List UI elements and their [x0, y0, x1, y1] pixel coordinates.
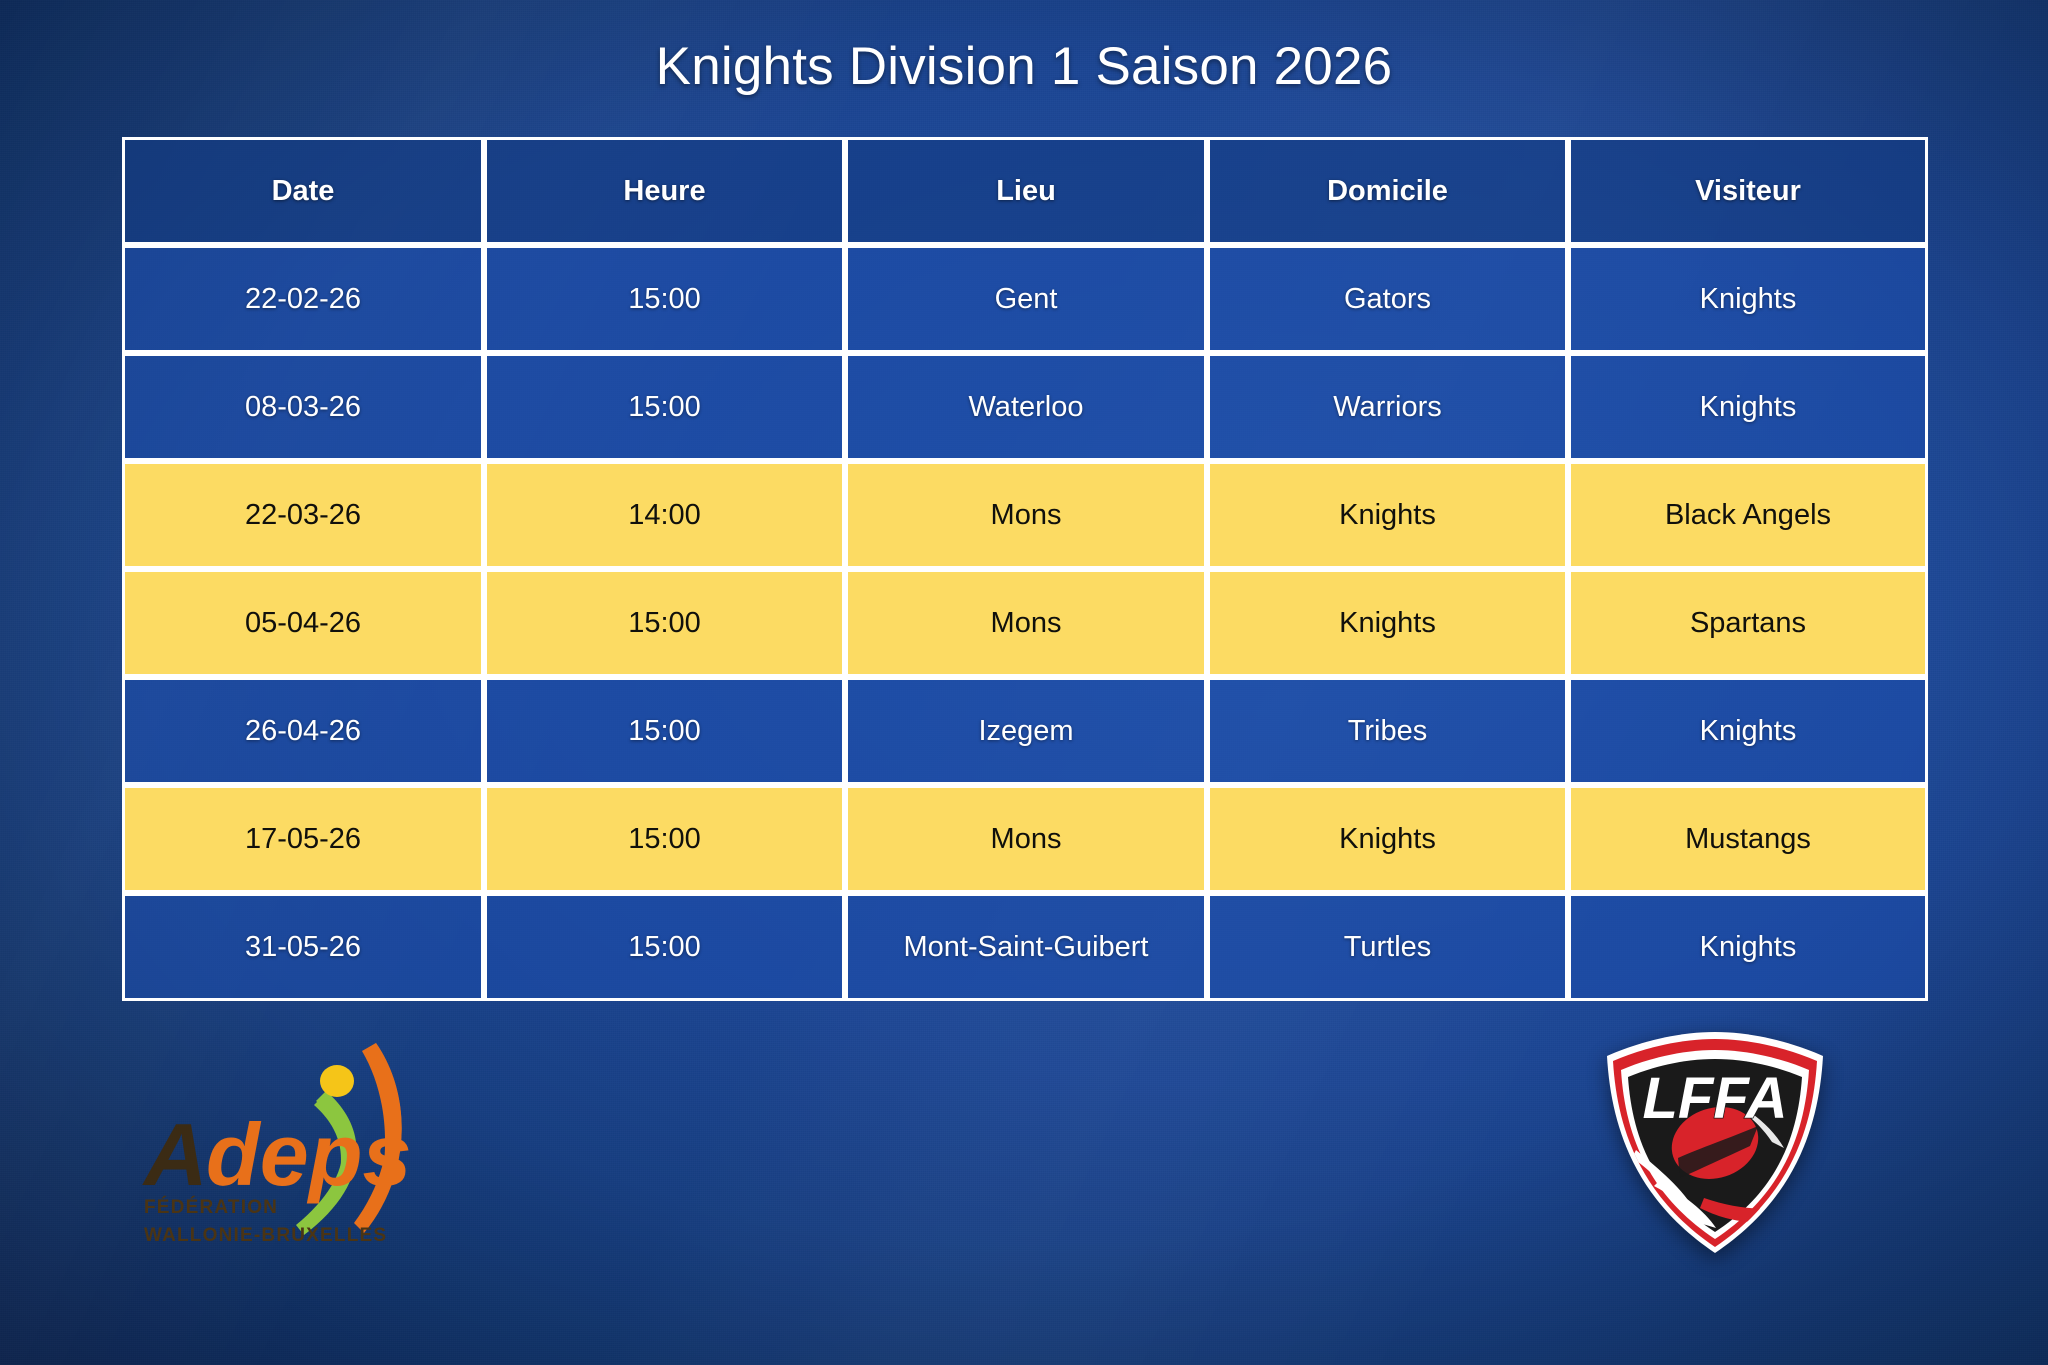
cell-date: 08-03-26: [122, 353, 484, 461]
column-header-visiteur: Visiteur: [1568, 137, 1928, 245]
cell-lieu: Mont-Saint-Guibert: [845, 893, 1207, 1001]
cell-lieu: Mons: [845, 569, 1207, 677]
cell-heure: 15:00: [484, 245, 845, 353]
adeps-wordmark-deps: deps: [206, 1105, 411, 1204]
cell-visiteur: Knights: [1568, 893, 1928, 1001]
table-row: 17-05-2615:00MonsKnightsMustangs: [122, 785, 1928, 893]
table-row: 08-03-2615:00WaterlooWarriorsKnights: [122, 353, 1928, 461]
cell-domicile: Turtles: [1207, 893, 1568, 1001]
table-row: 05-04-2615:00MonsKnightsSpartans: [122, 569, 1928, 677]
cell-date: 22-03-26: [122, 461, 484, 569]
table-row: 22-02-2615:00GentGatorsKnights: [122, 245, 1928, 353]
cell-heure: 14:00: [484, 461, 845, 569]
cell-date: 17-05-26: [122, 785, 484, 893]
adeps-subtitle-line1: FÉDÉRATION: [144, 1196, 278, 1218]
lffa-wordmark: LFFA: [1643, 1066, 1788, 1131]
lffa-logo: LFFA: [1600, 1030, 1830, 1255]
cell-lieu: Mons: [845, 785, 1207, 893]
cell-domicile: Warriors: [1207, 353, 1568, 461]
adeps-logo: A deps FÉDÉRATION WALLONIE-BRUXELLES: [140, 1035, 440, 1275]
cell-visiteur: Mustangs: [1568, 785, 1928, 893]
table-row: 22-03-2614:00MonsKnightsBlack Angels: [122, 461, 1928, 569]
adeps-yellow-dot: [320, 1065, 354, 1097]
cell-heure: 15:00: [484, 785, 845, 893]
cell-heure: 15:00: [484, 893, 845, 1001]
cell-domicile: Gators: [1207, 245, 1568, 353]
cell-date: 05-04-26: [122, 569, 484, 677]
cell-lieu: Mons: [845, 461, 1207, 569]
cell-domicile: Knights: [1207, 569, 1568, 677]
cell-domicile: Knights: [1207, 461, 1568, 569]
cell-lieu: Izegem: [845, 677, 1207, 785]
cell-visiteur: Knights: [1568, 353, 1928, 461]
schedule-table: Date Heure Lieu Domicile Visiteur 22-02-…: [122, 137, 1928, 1001]
column-header-heure: Heure: [484, 137, 845, 245]
cell-domicile: Knights: [1207, 785, 1568, 893]
adeps-subtitle-line2: WALLONIE-BRUXELLES: [144, 1225, 387, 1246]
cell-visiteur: Spartans: [1568, 569, 1928, 677]
cell-lieu: Gent: [845, 245, 1207, 353]
table-body: 22-02-2615:00GentGatorsKnights08-03-2615…: [122, 245, 1928, 1001]
cell-heure: 15:00: [484, 353, 845, 461]
adeps-wordmark-a: A: [142, 1105, 208, 1204]
table-row: 26-04-2615:00IzegemTribesKnights: [122, 677, 1928, 785]
column-header-lieu: Lieu: [845, 137, 1207, 245]
cell-visiteur: Black Angels: [1568, 461, 1928, 569]
cell-lieu: Waterloo: [845, 353, 1207, 461]
cell-domicile: Tribes: [1207, 677, 1568, 785]
cell-date: 22-02-26: [122, 245, 484, 353]
cell-heure: 15:00: [484, 677, 845, 785]
cell-visiteur: Knights: [1568, 245, 1928, 353]
cell-date: 31-05-26: [122, 893, 484, 1001]
table-header: Date Heure Lieu Domicile Visiteur: [122, 137, 1928, 245]
table-row: 31-05-2615:00Mont-Saint-GuibertTurtlesKn…: [122, 893, 1928, 1001]
cell-date: 26-04-26: [122, 677, 484, 785]
column-header-domicile: Domicile: [1207, 137, 1568, 245]
table-header-row: Date Heure Lieu Domicile Visiteur: [122, 137, 1928, 245]
column-header-date: Date: [122, 137, 484, 245]
cell-visiteur: Knights: [1568, 677, 1928, 785]
cell-heure: 15:00: [484, 569, 845, 677]
page-title: Knights Division 1 Saison 2026: [0, 36, 2048, 97]
